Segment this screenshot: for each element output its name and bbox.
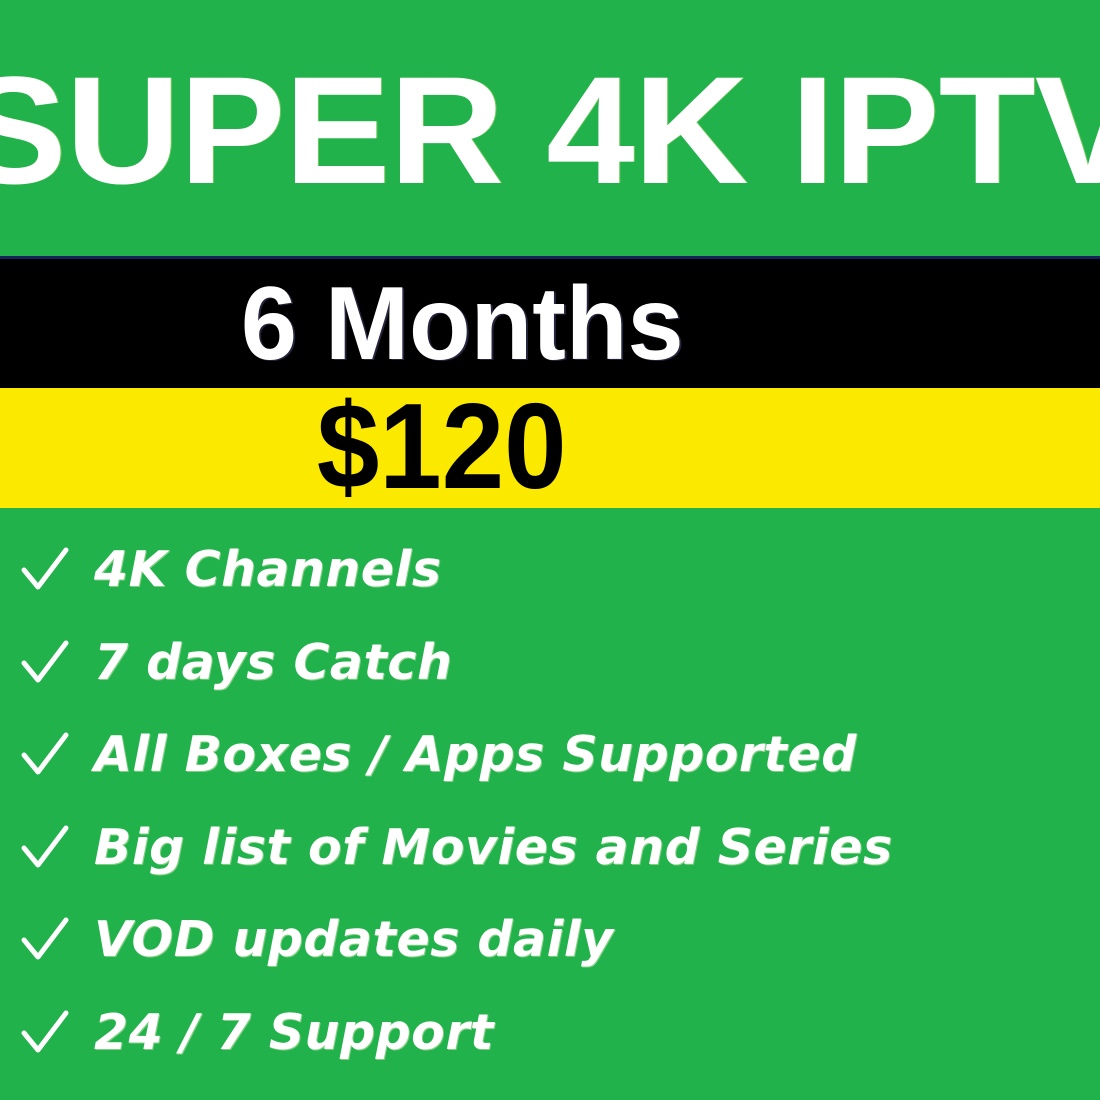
check-icon xyxy=(18,1006,80,1060)
check-icon xyxy=(18,543,80,597)
feature-list: 4K Channels 7 days Catch All Boxes / App… xyxy=(0,508,1100,1100)
feature-label: 4K Channels xyxy=(80,542,442,598)
page-title: SUPER 4K IPTV xyxy=(0,54,1100,207)
list-item: All Boxes / Apps Supported xyxy=(0,709,1100,802)
plan-duration-label: 6 Months xyxy=(241,270,684,378)
check-icon xyxy=(18,913,80,967)
plan-price-label: $120 xyxy=(317,388,567,508)
brand-band: SUPER 4K IPTV xyxy=(0,0,1100,256)
list-item: Big list of Movies and Series xyxy=(0,802,1100,895)
duration-band: 6 Months xyxy=(0,259,1100,388)
feature-label: Big list of Movies and Series xyxy=(80,820,893,876)
list-item: 4K Channels xyxy=(0,524,1100,617)
check-icon xyxy=(18,821,80,875)
price-band: $120 xyxy=(0,388,1100,508)
feature-label: All Boxes / Apps Supported xyxy=(80,727,857,783)
check-icon xyxy=(18,636,80,690)
check-icon xyxy=(18,728,80,782)
list-item: 7 days Catch xyxy=(0,617,1100,710)
feature-label: 24 / 7 Support xyxy=(80,1005,494,1061)
iptv-offer-poster: SUPER 4K IPTV 6 Months $120 4K Channels … xyxy=(0,0,1100,1100)
list-item: 24 / 7 Support xyxy=(0,987,1100,1080)
feature-label: VOD updates daily xyxy=(80,912,614,968)
feature-label: 7 days Catch xyxy=(80,635,452,691)
list-item: VOD updates daily xyxy=(0,894,1100,987)
